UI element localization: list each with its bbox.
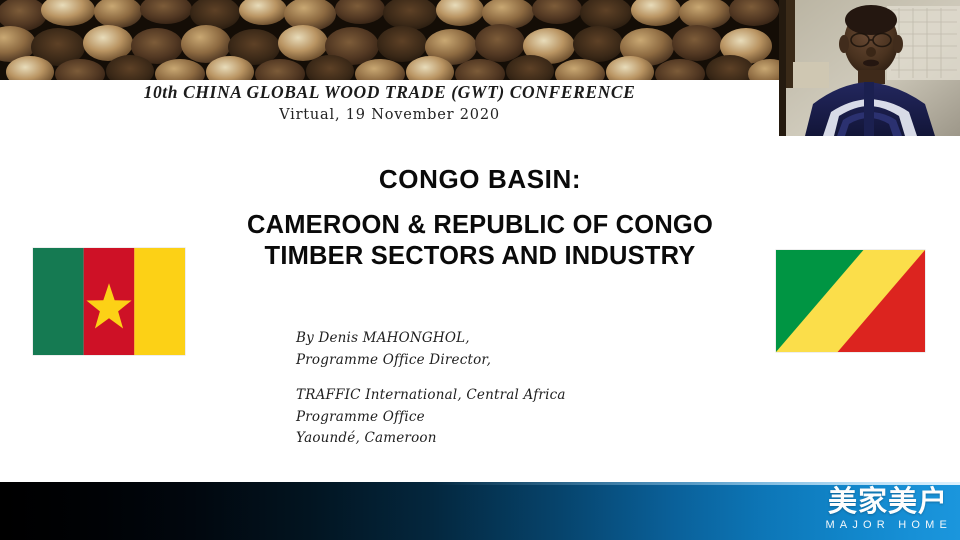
bottom-gradient-bar <box>0 482 960 540</box>
author-name: By Denis MAHONGHOL, <box>296 328 566 350</box>
presenter-video-feed[interactable] <box>779 0 960 136</box>
slide-title-block: CONGO BASIN: CAMEROON & REPUBLIC OF CONG… <box>120 163 840 272</box>
slide-title-line-3: TIMBER SECTORS AND INDUSTRY <box>120 241 840 272</box>
flag-of-republic-of-congo <box>776 250 925 352</box>
conference-subtitle: Virtual, 19 November 2020 <box>0 107 779 123</box>
bottom-bar-highlight <box>0 482 960 485</box>
author-org-line-1: TRAFFIC International, Central Africa <box>296 385 566 407</box>
conference-title: 10th CHINA GLOBAL WOOD TRADE (GWT) CONFE… <box>0 82 779 103</box>
author-org-line-2: Programme Office <box>296 407 566 429</box>
author-credits-block: By Denis MAHONGHOL, Programme Office Dir… <box>296 328 566 450</box>
conference-header: 10th CHINA GLOBAL WOOD TRADE (GWT) CONFE… <box>0 82 779 123</box>
watermark-chinese-text: 美家美户 <box>825 487 948 517</box>
flag-of-cameroon <box>33 248 185 355</box>
author-role: Programme Office Director, <box>296 350 566 372</box>
author-spacer <box>296 372 566 385</box>
slide-title-line-1: CONGO BASIN: <box>120 163 840 196</box>
author-location: Yaoundé, Cameroon <box>296 428 566 450</box>
timber-logs-banner-image <box>0 0 779 80</box>
presentation-slide: 10th CHINA GLOBAL WOOD TRADE (GWT) CONFE… <box>0 0 960 540</box>
watermark-english-text: MAJOR HOME <box>825 519 952 531</box>
watermark-logo: 美家美户 MAJOR HOME <box>825 487 948 531</box>
slide-title-line-2: CAMEROON & REPUBLIC OF CONGO <box>120 210 840 241</box>
